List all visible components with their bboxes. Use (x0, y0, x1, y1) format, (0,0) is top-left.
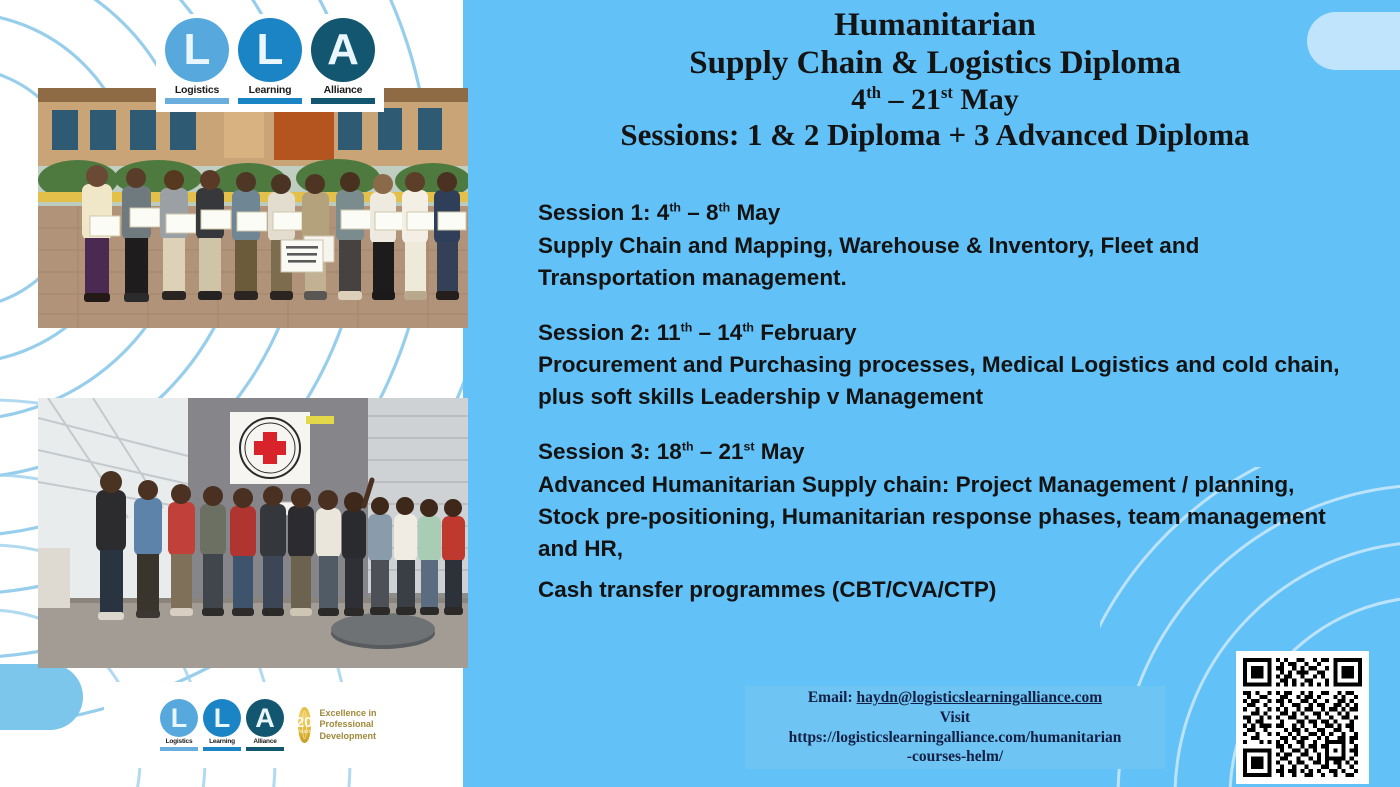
logo-circles: L L A (162, 18, 378, 82)
logo-label-alliance: Alliance (311, 84, 375, 104)
session-3-head-post: May (755, 439, 805, 464)
session-3-sup-1: th (682, 440, 694, 454)
session-1-heading: Session 1: 4th – 8th May (538, 196, 1358, 230)
logo-label-logistics: Logistics (165, 84, 229, 104)
lla-logo-bottom: L L A Logistics Learning Alliance (160, 699, 284, 751)
title-date-sep: – 21 (881, 83, 941, 116)
medal-number-group: 20 Years (296, 715, 313, 736)
qr-code-art (1243, 658, 1362, 777)
contact-email-label: Email: (808, 689, 853, 706)
logo-label-learning-bottom: Learning (203, 738, 241, 751)
logo-labels-bottom: Logistics Learning Alliance (160, 738, 284, 751)
logo-label-alliance-text-bottom: Alliance (246, 738, 284, 745)
session-3: Session 3: 18th – 21st May Advanced Huma… (538, 435, 1358, 606)
logo-bar-3 (311, 98, 375, 104)
logo-bar-2 (238, 98, 302, 104)
session-3-sup-2: st (744, 440, 755, 454)
logo-label-logistics-text: Logistics (165, 84, 229, 96)
session-2: Session 2: 11th – 14th February Procurem… (538, 316, 1358, 414)
contact-email-row: Email: haydn@logisticslearningalliance.c… (749, 688, 1161, 708)
session-1-head-mid: – 8 (681, 200, 719, 225)
title-line-3-dates: 4th – 21st May (500, 83, 1370, 118)
anniversary-badge: 20 Years Excellence in Professional Deve… (294, 703, 400, 747)
title-date-start-sup: th (866, 83, 881, 102)
medal-icon: 20 Years (294, 703, 315, 747)
session-1-head-post: May (730, 200, 780, 225)
contact-block: Email: haydn@logisticslearningalliance.c… (745, 686, 1165, 769)
session-2-body: Procurement and Purchasing processes, Me… (538, 349, 1358, 413)
lla-logo-bottom-strip: L L A Logistics Learning Alliance (104, 682, 400, 768)
session-3-head-pre: Session 3: 18 (538, 439, 682, 464)
logo-label-alliance-text: Alliance (311, 84, 375, 96)
session-2-sup-2: th (742, 320, 754, 334)
contact-email-address[interactable]: haydn@logisticslearningalliance.com (857, 689, 1103, 706)
photo-warehouse (38, 398, 468, 668)
title-date-end-sup: st (941, 83, 953, 102)
session-1-sup-1: th (669, 201, 681, 215)
logo-bar-1 (165, 98, 229, 104)
session-3-head-mid: – 21 (694, 439, 744, 464)
photo-graduates (38, 88, 468, 328)
sessions-list: Session 1: 4th – 8th May Supply Chain an… (538, 196, 1358, 628)
decorative-pill-bottom-left (0, 664, 83, 730)
title-line-1: Humanitarian (500, 6, 1370, 44)
logo-circle-l2-bottom: L (203, 699, 241, 737)
badge-unit: Years (296, 730, 313, 736)
promo-slide: L L A Logistics Learning Alliance L L (0, 0, 1400, 787)
title-line-2: Supply Chain & Logistics Diploma (500, 44, 1370, 82)
title-date-month: May (953, 83, 1019, 116)
logo-circle-l1: L (165, 18, 229, 82)
logo-circle-a: A (311, 18, 375, 82)
session-2-head-post: February (754, 320, 857, 345)
logo-circles-bottom: L L A (160, 699, 284, 737)
logo-bar-3-bottom (246, 747, 284, 751)
logo-circle-l2: L (238, 18, 302, 82)
title-date-start: 4 (851, 83, 866, 116)
session-1: Session 1: 4th – 8th May Supply Chain an… (538, 196, 1358, 294)
logo-label-learning-text-bottom: Learning (203, 738, 241, 745)
session-1-sup-2: th (719, 201, 731, 215)
qr-code[interactable] (1236, 651, 1369, 784)
logo-bar-2-bottom (203, 747, 241, 751)
contact-visit-label: Visit (749, 708, 1161, 728)
title-line-4-sessions: Sessions: 1 & 2 Diploma + 3 Advanced Dip… (500, 117, 1370, 153)
session-1-head-pre: Session 1: 4 (538, 200, 669, 225)
badge-number: 20 (296, 715, 313, 730)
logo-bar-1-bottom (160, 747, 198, 751)
photo-graduates-art (38, 88, 468, 328)
session-1-body: Supply Chain and Mapping, Warehouse & In… (538, 230, 1358, 294)
logo-labels: Logistics Learning Alliance (162, 84, 378, 104)
session-3-extra: Cash transfer programmes (CBT/CVA/CTP) (538, 574, 1358, 606)
session-2-head-pre: Session 2: 11 (538, 320, 681, 345)
logo-circle-l1-bottom: L (160, 699, 198, 737)
session-3-body: Advanced Humanitarian Supply chain: Proj… (538, 469, 1358, 565)
logo-circle-a-bottom: A (246, 699, 284, 737)
logo-label-logistics-text-bottom: Logistics (160, 738, 198, 745)
photo-warehouse-art (38, 398, 468, 668)
session-3-heading: Session 3: 18th – 21st May (538, 435, 1358, 469)
contact-url-line-1[interactable]: https://logisticslearningalliance.com/hu… (749, 728, 1161, 748)
logo-label-alliance-bottom: Alliance (246, 738, 284, 751)
session-2-head-mid: – 14 (692, 320, 742, 345)
logo-label-logistics-bottom: Logistics (160, 738, 198, 751)
logo-label-learning-text: Learning (238, 84, 302, 96)
session-2-heading: Session 2: 11th – 14th February (538, 316, 1358, 350)
lla-logo-top: L L A Logistics Learning Alliance (156, 14, 384, 112)
contact-url-line-2[interactable]: -courses-helm/ (749, 747, 1161, 767)
session-2-sup-1: th (681, 320, 693, 334)
page-title: Humanitarian Supply Chain & Logistics Di… (500, 6, 1370, 153)
logo-label-learning: Learning (238, 84, 302, 104)
badge-tagline: Excellence in Professional Development (320, 708, 400, 743)
